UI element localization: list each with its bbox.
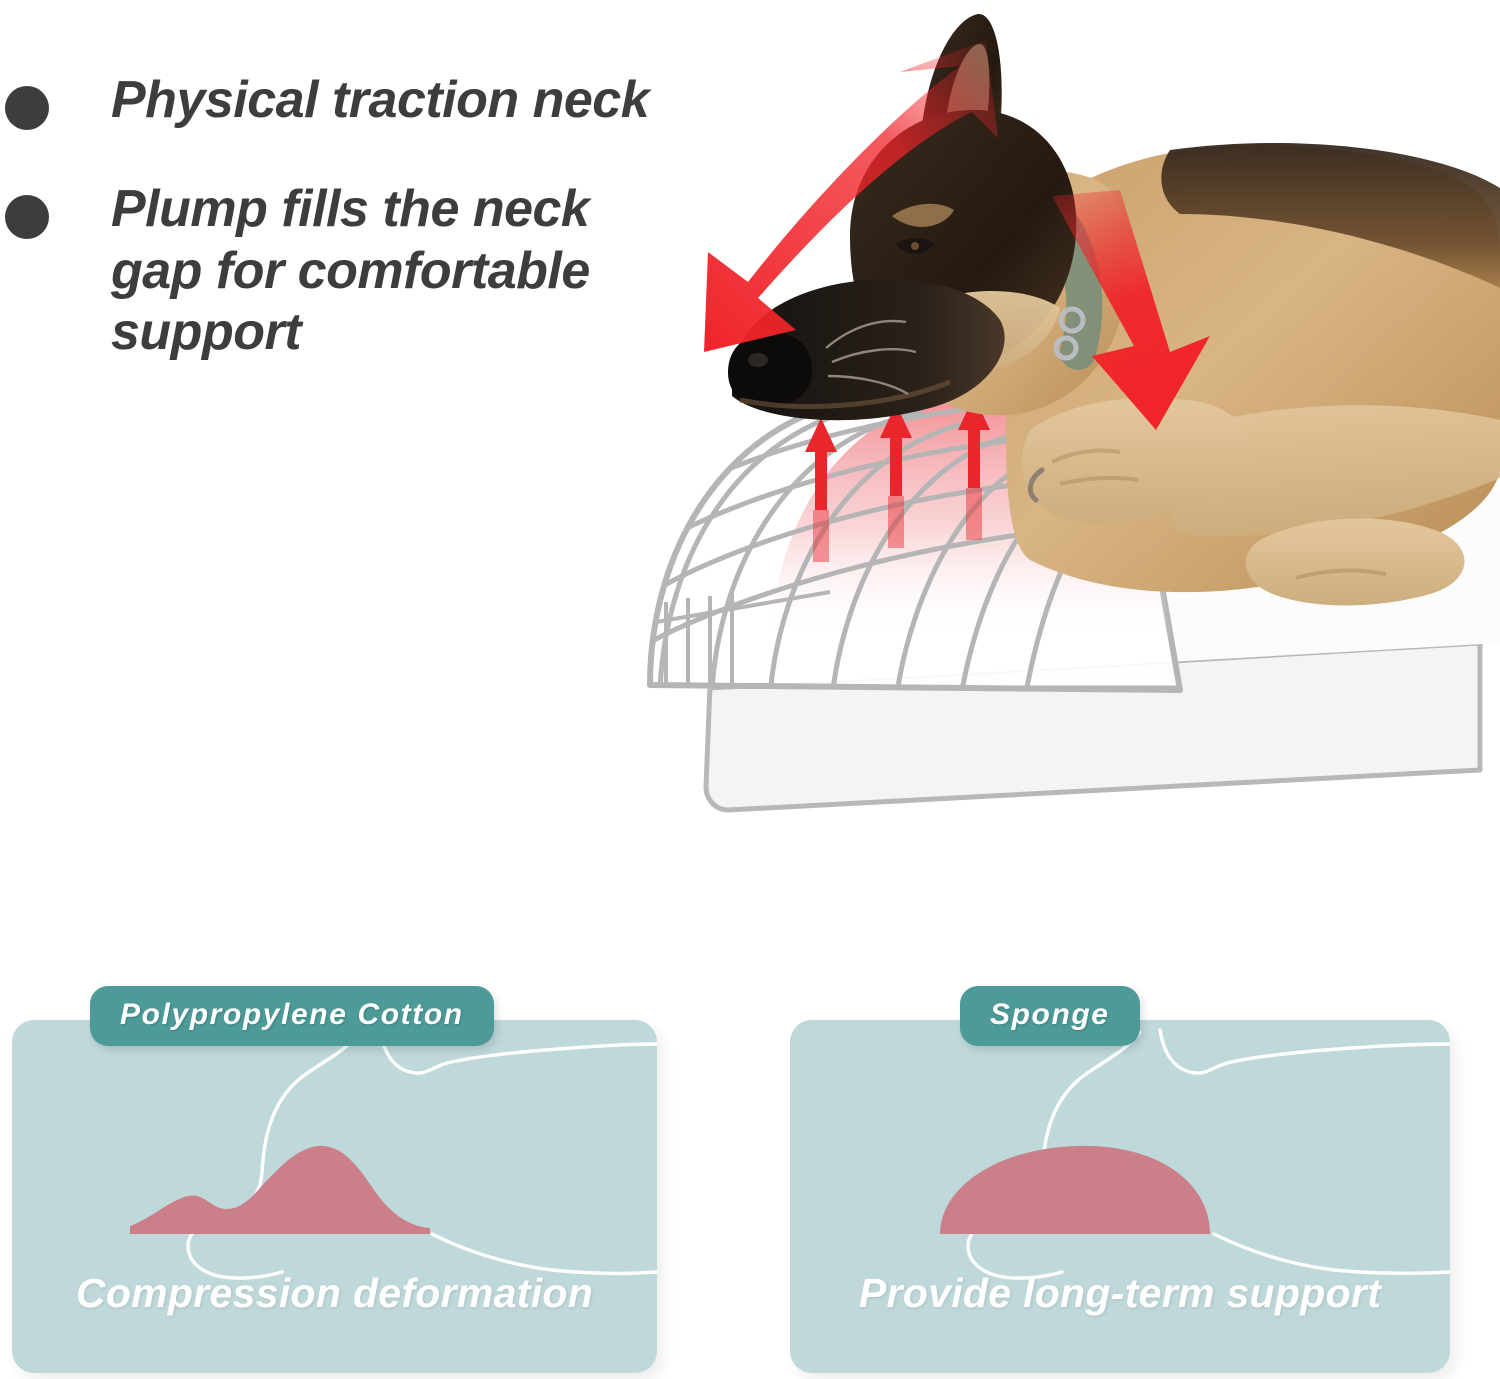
sponge-dome-shape (940, 1146, 1210, 1234)
feature-bullet-text-2: Plump fills the neck gap for comfortable… (111, 179, 691, 363)
list-item: Plump fills the neck gap for comfortable… (0, 179, 700, 363)
cotton-profile-illustration (12, 1020, 657, 1373)
list-item: Physical traction neck (0, 70, 700, 131)
product-infographic: Physical traction neck Plump fills the n… (0, 0, 1500, 1379)
material-comparison-section: Compression deformation Polypropylene Co… (0, 1010, 1500, 1379)
panel-caption-left: Compression deformation (12, 1270, 657, 1317)
hero-section: Physical traction neck Plump fills the n… (0, 0, 1500, 940)
sponge-profile-illustration (790, 1020, 1450, 1373)
dog-photo (700, 0, 1500, 640)
panel-caption-right: Provide long-term support (790, 1270, 1450, 1317)
comparison-panel-sponge: Provide long-term support Sponge (790, 1020, 1450, 1373)
comparison-panel-polypropylene-cotton: Compression deformation Polypropylene Co… (12, 1020, 657, 1373)
bullet-dot-icon (5, 86, 49, 130)
material-badge-polypropylene-cotton: Polypropylene Cotton (90, 986, 494, 1046)
compressed-fill-shape (130, 1146, 430, 1234)
feature-bullet-text-1: Physical traction neck (111, 70, 649, 131)
feature-bullet-list: Physical traction neck Plump fills the n… (0, 70, 700, 411)
bullet-dot-icon (5, 195, 49, 239)
material-badge-sponge: Sponge (960, 986, 1140, 1046)
